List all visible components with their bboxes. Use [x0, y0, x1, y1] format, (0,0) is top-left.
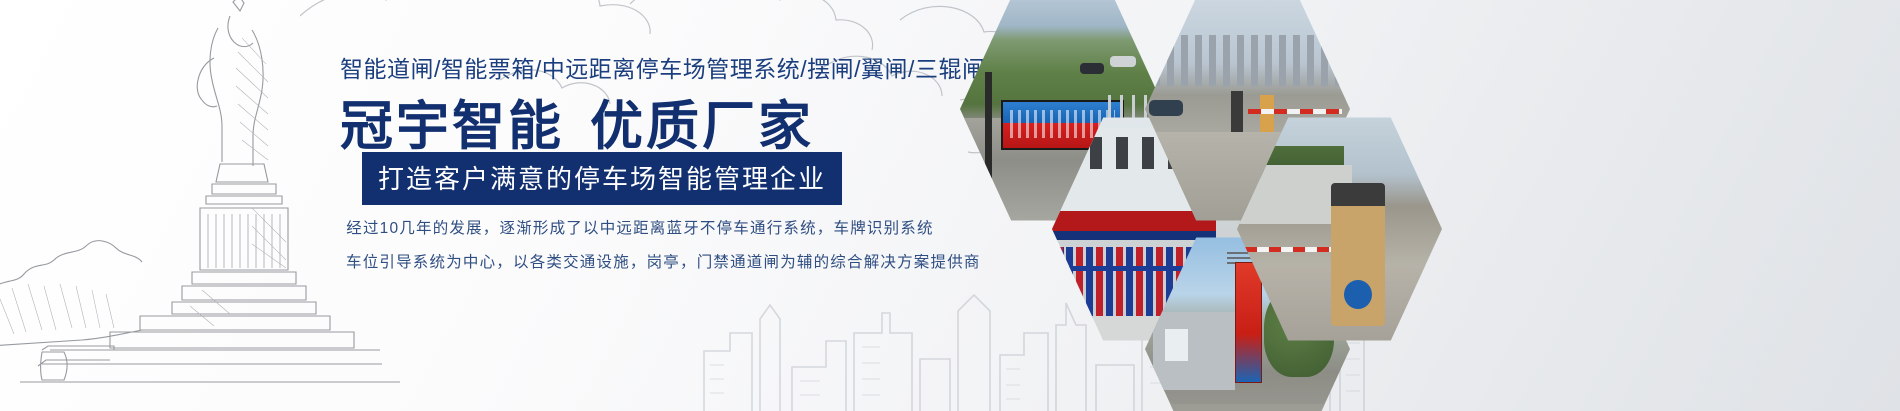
description-paragraph: 经过10几年的发展，逐渐形成了以中远距离蓝牙不停车通行系统，车牌识别系统 车位引…	[340, 212, 940, 280]
gate-post	[985, 72, 992, 178]
red-signboard	[1052, 211, 1216, 232]
factory-building	[1153, 312, 1235, 390]
page-title: 冠宇智能优质厂家	[340, 84, 814, 160]
vertical-banner	[1235, 262, 1262, 384]
car-silver	[1110, 56, 1136, 67]
boom-arm	[1245, 247, 1343, 252]
promo-banner: 智能道闸/智能票箱/中远距离停车场管理系统/摆闸/翼闸/三辊闸 冠宇智能优质厂家…	[0, 0, 1900, 411]
paragraph-line-2: 车位引导系统为中心，以各类交通设施，岗亭，门禁通道闸为辅的综合解决方案提供商	[340, 246, 940, 280]
blue-signboard	[1052, 231, 1216, 240]
car-black	[1080, 63, 1104, 74]
background-buildings	[1153, 35, 1342, 86]
parked-car	[1149, 100, 1183, 116]
slogan-bar: 打造客户满意的停车场智能管理企业	[362, 152, 842, 205]
paragraph-line-1: 经过10几年的发展，逐渐形成了以中远距离蓝牙不停车通行系统，车牌识别系统	[340, 212, 940, 246]
boom-arm	[1248, 109, 1342, 114]
ground	[1145, 404, 1350, 411]
hexagon-photo-collage	[930, 0, 1630, 411]
headline-part-1: 冠宇智能	[340, 97, 564, 156]
headline-part-2: 优质厂家	[590, 97, 814, 156]
headline-text-block: 智能道闸/智能票箱/中远距离停车场管理系统/摆闸/翼闸/三辊闸 冠宇智能优质厂家…	[332, 0, 942, 411]
kicker-product-list: 智能道闸/智能票箱/中远距离停车场管理系统/摆闸/翼闸/三辊闸	[340, 50, 985, 84]
